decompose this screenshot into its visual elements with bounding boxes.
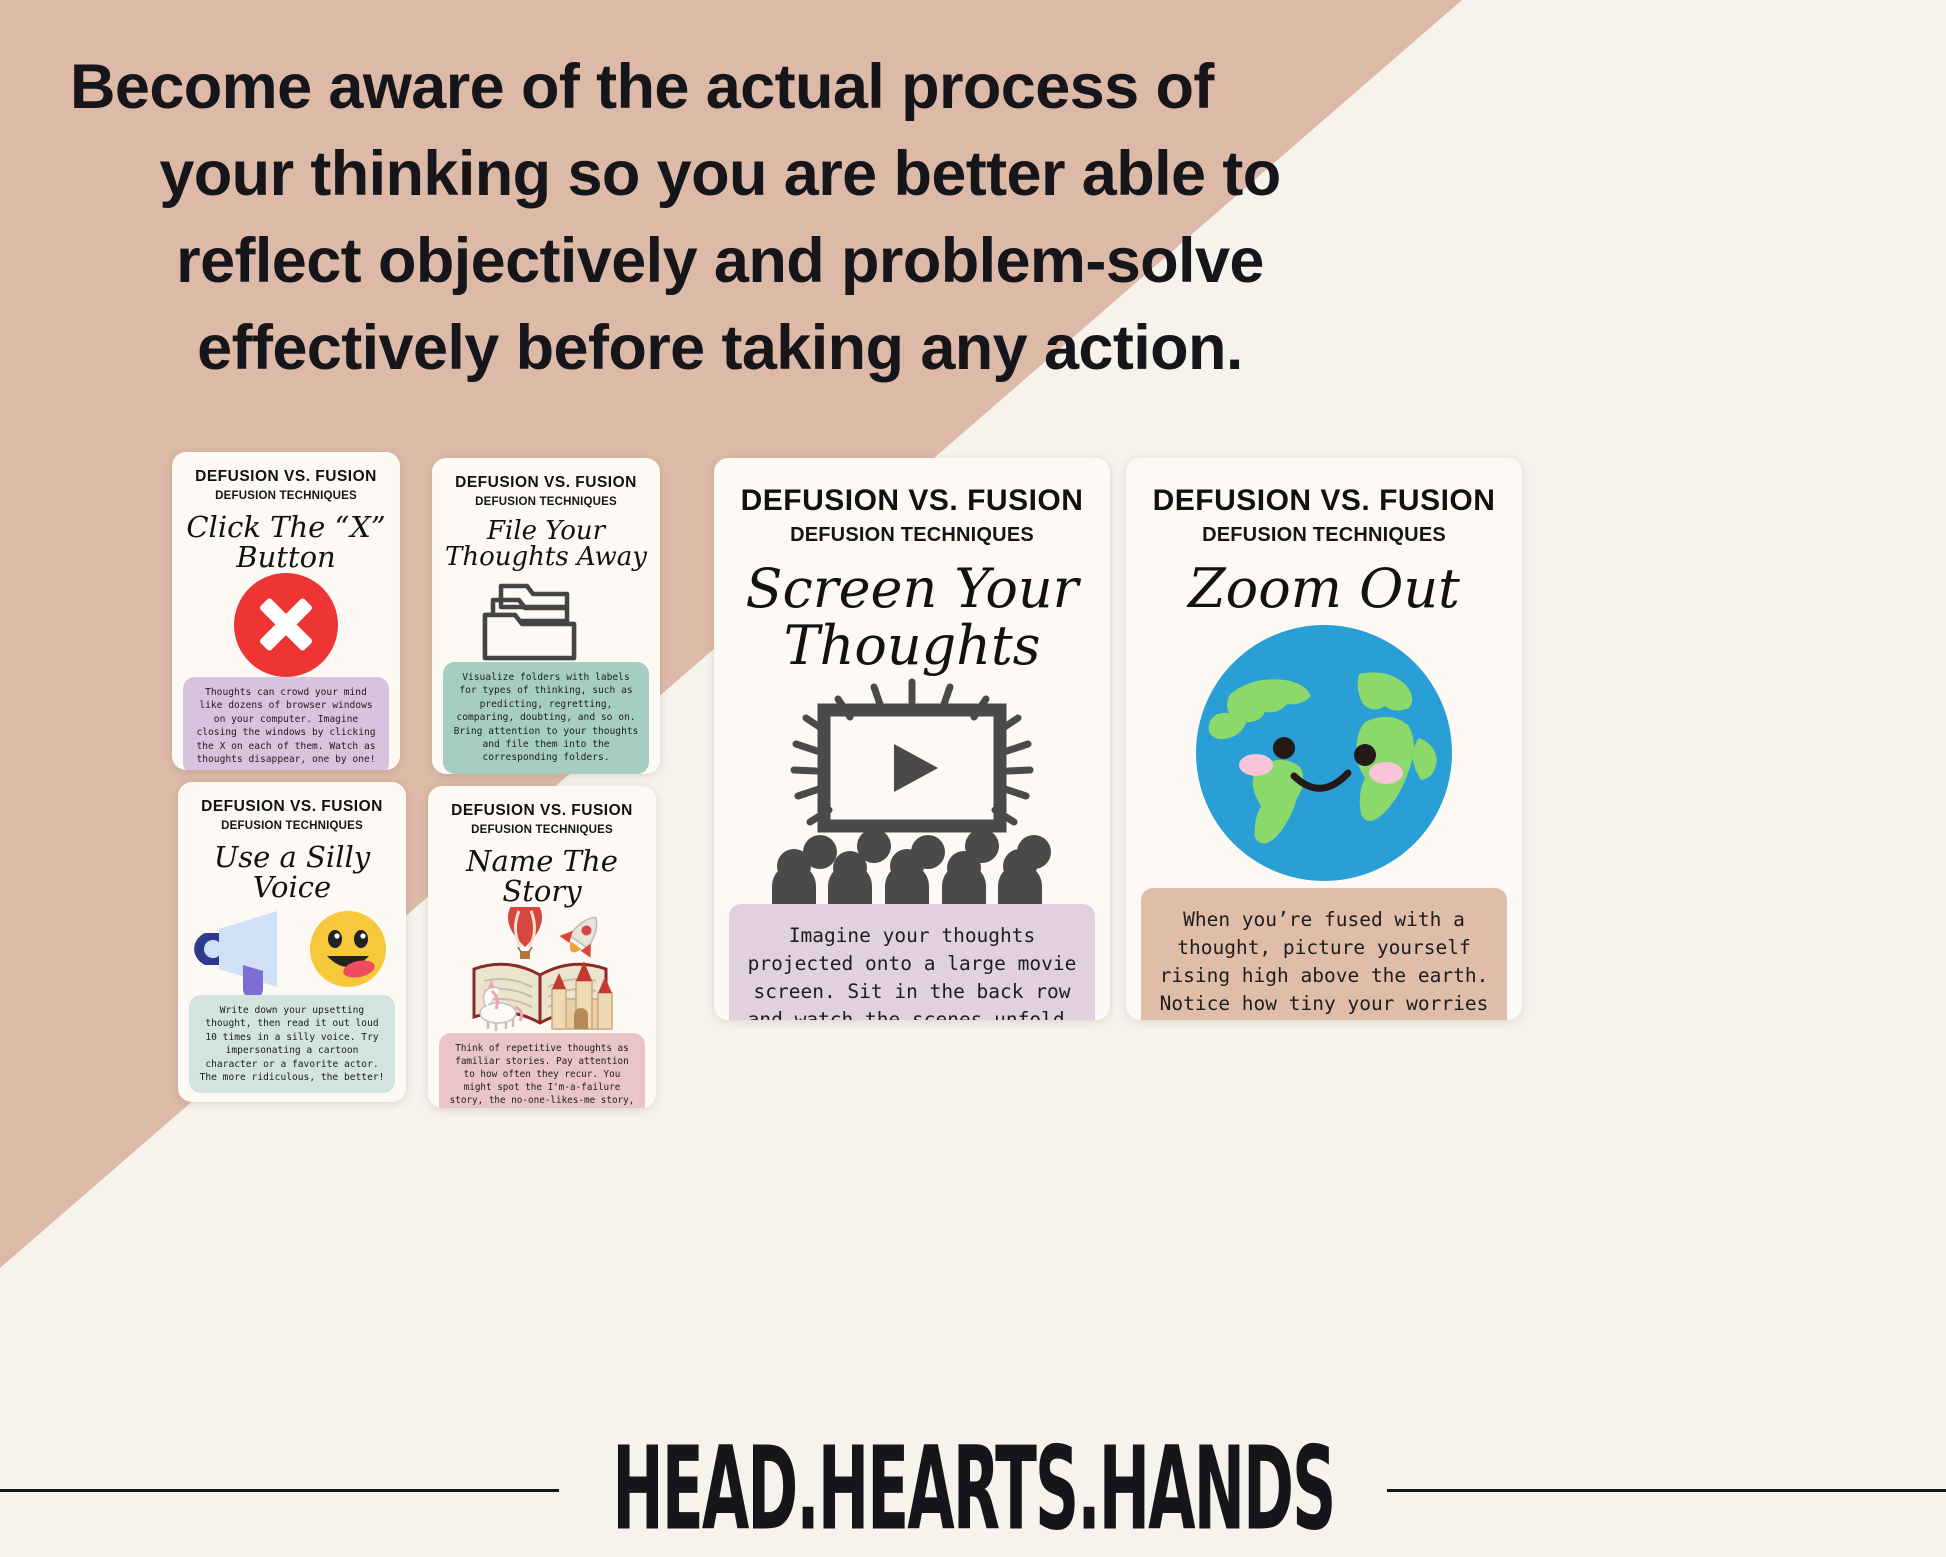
card-subkicker: DEFUSION TECHNIQUES bbox=[178, 820, 406, 832]
card-artwork bbox=[178, 903, 406, 995]
megaphone-icon bbox=[193, 903, 301, 995]
card-artwork bbox=[714, 674, 1110, 904]
card-artwork bbox=[428, 907, 656, 1033]
card-zoom-out[interactable]: DEFUSION VS. FUSION DEFUSION TECHNIQUES … bbox=[1126, 458, 1522, 1020]
card-title: Use a Silly Voice bbox=[178, 842, 406, 903]
card-body-text: When you’re fused with a thought, pictur… bbox=[1141, 888, 1507, 1020]
card-kicker: DEFUSION VS. FUSION bbox=[714, 484, 1110, 518]
brand-wordmark: HEAD.HEARTS.HANDS bbox=[592, 1423, 1355, 1556]
card-title: File Your Thoughts Away bbox=[432, 518, 660, 570]
card-kicker: DEFUSION VS. FUSION bbox=[428, 802, 656, 820]
card-title: Screen Your Thoughts bbox=[714, 561, 1110, 674]
card-subkicker: DEFUSION TECHNIQUES bbox=[1126, 524, 1522, 547]
card-use-a-silly-voice[interactable]: DEFUSION VS. FUSION DEFUSION TECHNIQUES … bbox=[178, 782, 406, 1102]
file-folders-icon bbox=[471, 570, 621, 662]
card-kicker: DEFUSION VS. FUSION bbox=[432, 474, 660, 492]
smiling-earth-icon bbox=[1189, 618, 1459, 888]
red-x-circle-icon bbox=[234, 573, 338, 677]
card-kicker: DEFUSION VS. FUSION bbox=[1126, 484, 1522, 518]
card-body-text: Imagine your thoughts projected onto a l… bbox=[729, 904, 1095, 1020]
card-artwork bbox=[1126, 618, 1522, 888]
earth-left-cheek bbox=[1239, 754, 1273, 776]
card-title: Name The Story bbox=[428, 846, 656, 907]
footer-rule-left bbox=[0, 1489, 559, 1492]
card-artwork bbox=[432, 570, 660, 662]
earth-right-cheek bbox=[1369, 762, 1403, 784]
card-click-the-x-button[interactable]: DEFUSION VS. FUSION DEFUSION TECHNIQUES … bbox=[172, 452, 400, 770]
card-body-text: Think of repetitive thoughts as familiar… bbox=[439, 1033, 645, 1108]
card-subkicker: DEFUSION TECHNIQUES bbox=[432, 496, 660, 508]
rocket bbox=[556, 907, 611, 963]
card-subkicker: DEFUSION TECHNIQUES bbox=[714, 524, 1110, 547]
card-title: Zoom Out bbox=[1126, 561, 1522, 618]
movie-screen-audience-icon bbox=[762, 674, 1062, 904]
card-file-your-thoughts-away[interactable]: DEFUSION VS. FUSION DEFUSION TECHNIQUES … bbox=[432, 458, 660, 774]
card-kicker: DEFUSION VS. FUSION bbox=[178, 798, 406, 816]
card-kicker: DEFUSION VS. FUSION bbox=[172, 468, 400, 486]
card-screen-your-thoughts[interactable]: DEFUSION VS. FUSION DEFUSION TECHNIQUES … bbox=[714, 458, 1110, 1020]
laughing-emoji-icon bbox=[305, 906, 391, 992]
earth-left-eye bbox=[1273, 737, 1295, 759]
card-body-text: Write down your upsetting thought, then … bbox=[189, 995, 395, 1093]
card-subkicker: DEFUSION TECHNIQUES bbox=[428, 824, 656, 836]
hot-air-balloon bbox=[508, 907, 542, 959]
footer-rule-right bbox=[1387, 1489, 1946, 1492]
earth-right-eye bbox=[1354, 744, 1376, 766]
card-subkicker: DEFUSION TECHNIQUES bbox=[172, 490, 400, 502]
card-name-the-story[interactable]: DEFUSION VS. FUSION DEFUSION TECHNIQUES … bbox=[428, 786, 656, 1108]
storybook-icon bbox=[456, 907, 628, 1033]
card-body-text: Visualize folders with labels for types … bbox=[443, 662, 649, 774]
card-body-text: Thoughts can crowd your mind like dozens… bbox=[183, 677, 389, 770]
card-artwork bbox=[172, 573, 400, 677]
footer-branding: HEAD.HEARTS.HANDS bbox=[0, 1430, 1946, 1550]
card-title: Click The “X” Button bbox=[172, 512, 400, 573]
technique-card-grid: DEFUSION VS. FUSION DEFUSION TECHNIQUES … bbox=[0, 0, 1946, 1556]
